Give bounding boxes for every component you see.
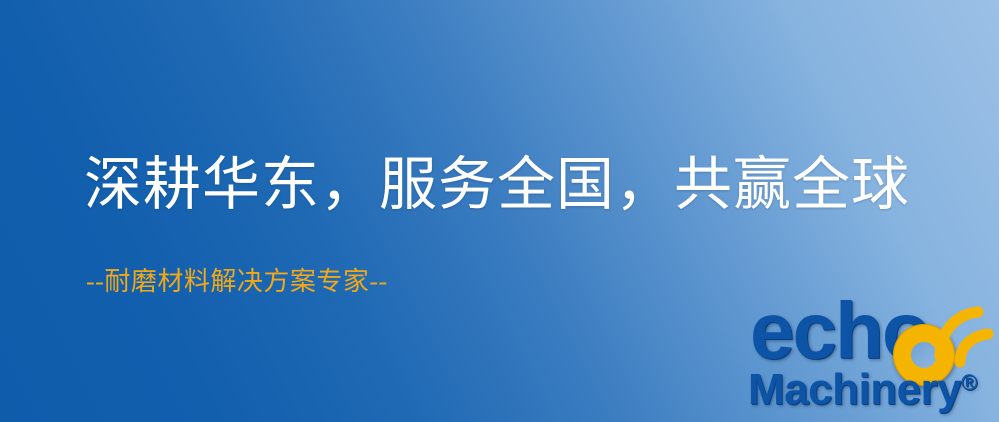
company-logo: echo Machinery®: [748, 298, 999, 422]
banner-subtitle: --耐磨材料解决方案专家--: [86, 268, 388, 297]
promo-banner: 深耕华东，服务全国，共赢全球 --耐磨材料解决方案专家-- echo Machi…: [0, 0, 999, 422]
banner-headline: 深耕华东，服务全国，共赢全球: [84, 155, 910, 216]
logo-tagline: Machinery®: [748, 368, 977, 412]
logo-tagline-text: Machinery: [748, 365, 961, 414]
registered-trademark-icon: ®: [961, 370, 977, 395]
signal-waves-icon: [934, 294, 999, 368]
